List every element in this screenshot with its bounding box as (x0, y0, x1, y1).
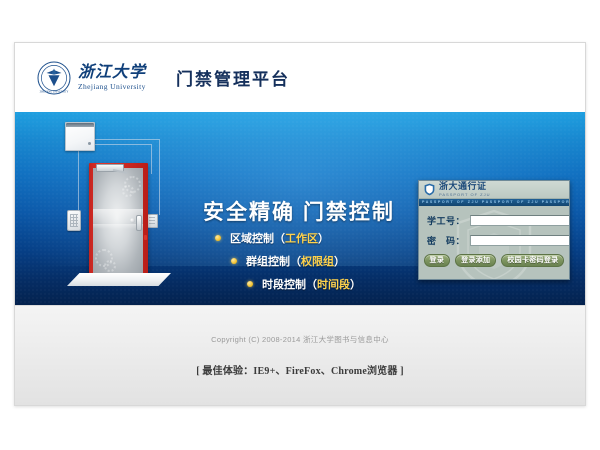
logo-text-en: Zhejiang University (78, 83, 146, 91)
bullet-highlight: 权限组 (301, 253, 334, 269)
staff-id-row: 学工号： (427, 214, 561, 227)
door-handle (136, 215, 142, 231)
login-panel-title: 浙大通行证 (439, 182, 490, 191)
password-label: 密 码： (427, 234, 465, 247)
list-item: 时段控制 （ 时间段 ） (247, 276, 425, 292)
login-add-button[interactable]: 登录添加 (455, 254, 496, 267)
floor-platform (67, 273, 171, 286)
bullet-paren-open: （ (306, 276, 317, 292)
controller-box (65, 122, 95, 151)
wire-box-to-keypad (78, 149, 79, 211)
bullet-dot-icon (231, 258, 237, 264)
wire-down-to-door (151, 144, 152, 174)
site-header: ZHEJIANG UNIVERSITY 浙江大学 Zhejiang Univer… (15, 43, 585, 112)
bullet-highlight: 时间段 (317, 276, 350, 292)
login-panel-subtitle: PASSPORT OF ZJU (439, 193, 490, 197)
staff-id-label: 学工号： (427, 214, 465, 227)
bullet-highlight: 工作区 (285, 230, 318, 246)
bullet-text: 时段控制 (262, 276, 306, 292)
browser-recommendation-text: [ 最佳体验：IE9+、FireFox、Chrome浏览器 ] (15, 362, 585, 377)
bullet-dot-icon (215, 235, 221, 241)
door-closer (96, 164, 124, 172)
login-panel: 浙大通行证 PASSPORT OF ZJU PASSPORT OF ZJU PA… (418, 180, 570, 280)
red-door-frame (89, 163, 148, 277)
login-button-row: 登录 登录添加 校园卡密码登录 (427, 254, 561, 267)
svg-text:ZHEJIANG UNIVERSITY: ZHEJIANG UNIVERSITY (40, 90, 69, 93)
wire-box-right (93, 139, 159, 140)
bullet-dot-icon (247, 281, 253, 287)
login-button[interactable]: 登录 (424, 254, 451, 267)
page-root: ZHEJIANG UNIVERSITY 浙江大学 Zhejiang Univer… (0, 0, 600, 450)
bullet-text: 群组控制 (246, 253, 290, 269)
hero-banner: 安全精确 门禁控制 区域控制 （ 工作区 ） 群组控制 （ 权限组 ） (15, 112, 585, 305)
door-status-led (144, 235, 147, 240)
site-footer: Copyright (C) 2008-2014 浙江大学图书与信息中心 [ 最佳… (15, 305, 585, 406)
zju-seal-icon: ZHEJIANG UNIVERSITY (37, 61, 71, 95)
staff-id-field[interactable] (470, 215, 570, 226)
login-panel-strip: PASSPORT OF ZJU PASSPORT OF ZJU PASSPORT… (419, 199, 569, 206)
login-form: 学工号： 密 码： 登录 登录添加 校园卡密码登录 (419, 206, 569, 267)
page-title: 门禁管理平台 (176, 65, 290, 90)
app-window: ZHEJIANG UNIVERSITY 浙江大学 Zhejiang Univer… (14, 42, 586, 406)
bullet-paren-open: （ (290, 253, 301, 269)
copyright-text: Copyright (C) 2008-2014 浙江大学图书与信息中心 (15, 334, 585, 345)
bullet-paren-close: ） (350, 276, 361, 292)
access-control-door-illustration (49, 120, 189, 300)
password-row: 密 码： (427, 234, 561, 247)
login-panel-header: 浙大通行证 PASSPORT OF ZJU (419, 181, 569, 199)
banner-headline: 安全精确 门禁控制 (203, 196, 395, 226)
door-knob (130, 218, 135, 223)
wire-down-to-reader (159, 139, 160, 215)
password-field[interactable] (470, 235, 570, 246)
banner-feature-list: 区域控制 （ 工作区 ） 群组控制 （ 权限组 ） 时段控制 （ 时间段 (215, 230, 425, 299)
site-logo[interactable]: ZHEJIANG UNIVERSITY 浙江大学 Zhejiang Univer… (37, 61, 146, 95)
bullet-paren-close: ） (318, 230, 329, 246)
bullet-text: 区域控制 (230, 230, 274, 246)
bullet-paren-close: ） (334, 253, 345, 269)
campus-card-login-button[interactable]: 校园卡密码登录 (501, 254, 564, 267)
list-item: 群组控制 （ 权限组 ） (231, 253, 425, 269)
logo-text-cn: 浙江大学 (78, 65, 146, 81)
shield-icon (424, 183, 435, 196)
wire-box-right-2 (93, 144, 151, 145)
wall-keypad-reader (67, 210, 81, 231)
list-item: 区域控制 （ 工作区 ） (215, 230, 425, 246)
bullet-paren-open: （ (274, 230, 285, 246)
